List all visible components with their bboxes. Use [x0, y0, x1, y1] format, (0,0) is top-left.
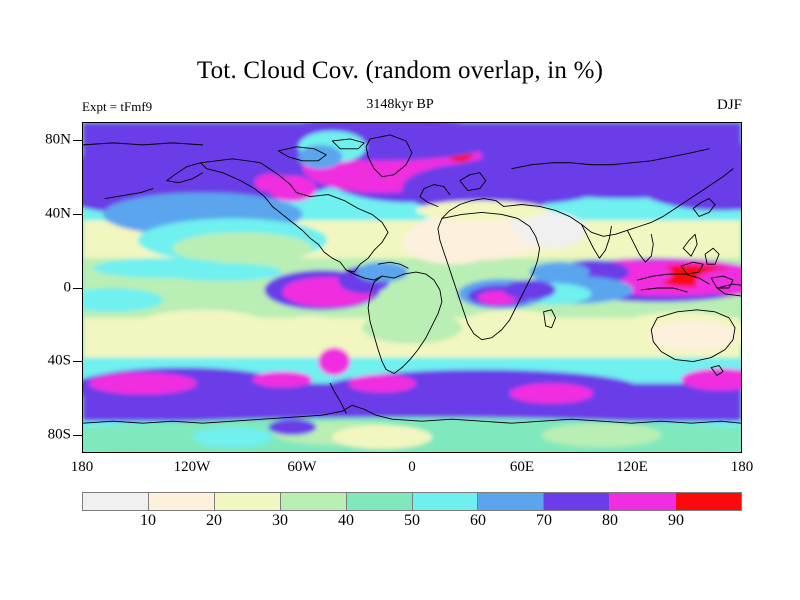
ytick-label-80s: 80S — [48, 427, 71, 444]
cloud-cover-contour-map — [83, 123, 741, 452]
colorbar-band-6 — [478, 493, 544, 510]
xtick-label-180e: 180 — [731, 459, 754, 476]
colorbar-band-8 — [610, 493, 676, 510]
colorbar-label-70: 70 — [536, 512, 552, 530]
colorbar-label-20: 20 — [206, 512, 222, 530]
season-label: DJF — [717, 97, 742, 114]
colorbar-band-5 — [413, 493, 479, 510]
xtick-label-60e: 60E — [510, 459, 534, 476]
ytick-label-80n: 80N — [45, 132, 71, 149]
colorbar — [82, 492, 742, 511]
page-title: Tot. Cloud Cov. (random overlap, in %) — [0, 57, 800, 85]
ytick-mark-80n — [73, 140, 82, 141]
xtick-label-120e: 120E — [616, 459, 648, 476]
colorbar-label-60: 60 — [470, 512, 486, 530]
colorbar-band-3 — [281, 493, 347, 510]
ytick-label-40s: 40S — [48, 353, 71, 370]
colorbar-band-4 — [347, 493, 413, 510]
xtick-label-60w: 60W — [287, 459, 316, 476]
ytick-label-40n: 40N — [45, 206, 71, 223]
colorbar-band-1 — [149, 493, 215, 510]
colorbar-label-80: 80 — [602, 512, 618, 530]
colorbar-label-50: 50 — [404, 512, 420, 530]
colorbar-label-40: 40 — [338, 512, 354, 530]
colorbar-band-0 — [83, 493, 149, 510]
ytick-mark-40n — [73, 214, 82, 215]
ytick-mark-80s — [73, 435, 82, 436]
colorbar-label-90: 90 — [668, 512, 684, 530]
xtick-label-120w: 120W — [174, 459, 211, 476]
colorbar-label-10: 10 — [140, 512, 156, 530]
colorbar-band-9 — [676, 493, 741, 510]
ytick-mark-0 — [73, 288, 82, 289]
colorbar-label-30: 30 — [272, 512, 288, 530]
xtick-label-0: 0 — [408, 459, 416, 476]
colorbar-band-7 — [544, 493, 610, 510]
cloud-cover-figure: Tot. Cloud Cov. (random overlap, in %) 3… — [0, 0, 800, 600]
ytick-mark-40s — [73, 361, 82, 362]
map-plot-area — [82, 122, 742, 453]
xtick-label-180w: 180 — [71, 459, 94, 476]
experiment-label: Expt = tFmf9 — [82, 99, 152, 115]
colorbar-band-2 — [215, 493, 281, 510]
ytick-label-0: 0 — [64, 280, 72, 297]
